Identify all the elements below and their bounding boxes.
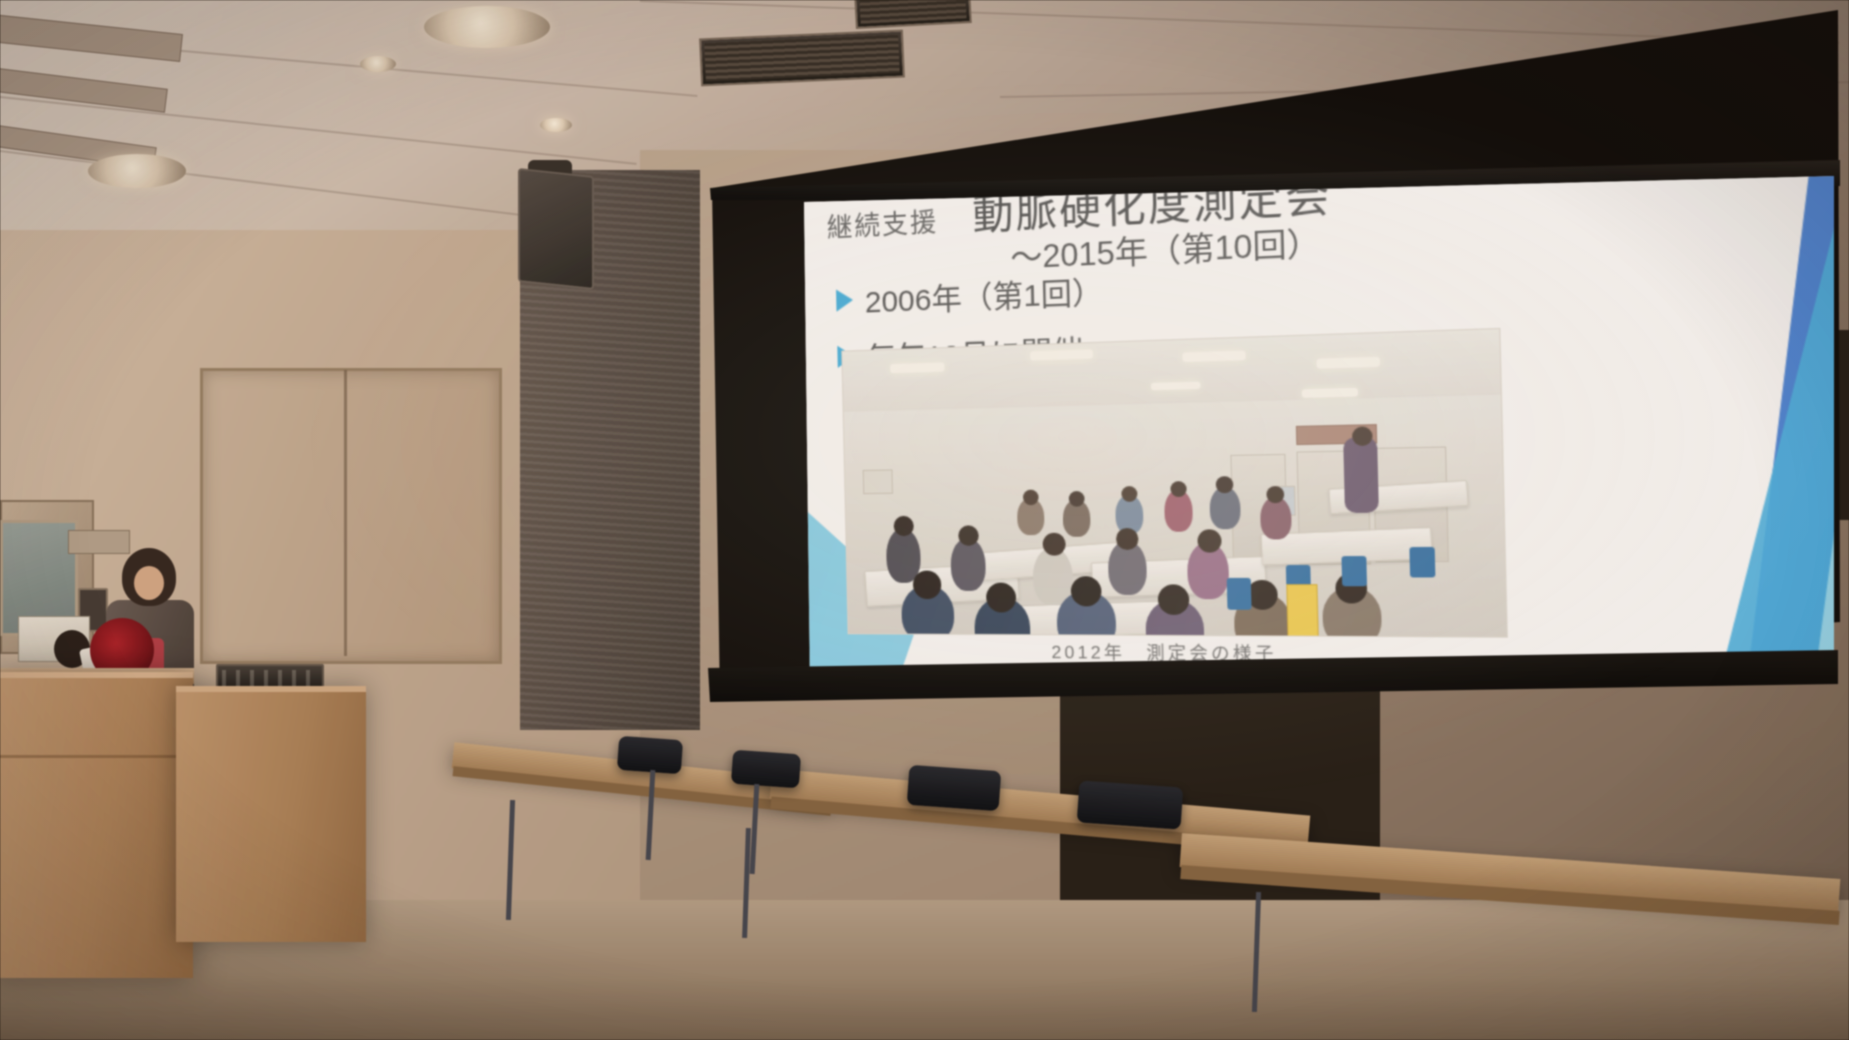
photo-standing-staff xyxy=(1343,437,1379,513)
audience-chair[interactable] xyxy=(1077,780,1184,829)
photo-person-head xyxy=(986,583,1016,613)
photo-person-head xyxy=(1121,486,1137,502)
photo-person-head xyxy=(1042,533,1065,556)
photo-ceiling-light xyxy=(1151,382,1201,391)
recessed-ceiling-light xyxy=(360,56,396,72)
photo-person-head xyxy=(1071,576,1102,606)
list-item: 2006年（第1回） xyxy=(836,267,1104,323)
slide-decoration-mid-blue xyxy=(1684,176,1836,688)
person-face xyxy=(134,566,164,600)
photo-person-head xyxy=(1197,529,1221,552)
lectern-podium xyxy=(0,672,193,978)
door-seam xyxy=(344,370,347,656)
projected-slide: 継続支援 動脈硬化度測定会 ～2015年（第10回） 2006年（第1回） 毎年… xyxy=(798,176,1836,688)
photo-person-head xyxy=(1069,491,1085,507)
ceiling-speaker xyxy=(518,168,594,290)
photo-ceiling-light xyxy=(890,362,944,373)
rear-door-panel[interactable] xyxy=(200,368,502,664)
photo-ceiling-light xyxy=(1317,357,1380,369)
photo-person-head xyxy=(1023,490,1039,506)
slide-decoration-light-blue xyxy=(1789,292,1836,688)
room-environment: 継続支援 動脈硬化度測定会 ～2015年（第10回） 2006年（第1回） 毎年… xyxy=(0,0,1849,1040)
photo-person-head xyxy=(913,571,942,600)
photo-chair xyxy=(1341,556,1367,586)
photo-person-head xyxy=(1116,528,1139,550)
photo-chair xyxy=(1409,547,1435,578)
photo-yellow-signboard xyxy=(1286,584,1319,638)
podium-panel-line xyxy=(0,755,190,758)
projection-screen: 継続支援 動脈硬化度測定会 ～2015年（第10回） 2006年（第1回） 毎年… xyxy=(690,10,1849,710)
slide-title-tag: 継続支援 xyxy=(826,202,938,245)
audience-chair[interactable] xyxy=(907,765,1002,811)
recessed-ceiling-light xyxy=(424,6,550,48)
photo-person-head xyxy=(894,516,914,536)
photo-ceiling-light xyxy=(1182,351,1245,363)
photo-chair xyxy=(1227,578,1252,610)
slide-decoration-dark-blue xyxy=(1660,176,1836,688)
bullet-text: 2006年（第1回） xyxy=(864,267,1104,322)
recessed-ceiling-light xyxy=(88,154,186,188)
slide-embedded-photo xyxy=(841,328,1508,638)
audience-chair[interactable] xyxy=(731,750,801,789)
triangle-bullet-icon xyxy=(836,289,853,312)
recessed-ceiling-light xyxy=(540,118,572,132)
photo-ceiling-light xyxy=(1302,388,1358,398)
photo-person-head xyxy=(1266,486,1284,503)
screen-surface: 継続支援 動脈硬化度測定会 ～2015年（第10回） 2006年（第1回） 毎年… xyxy=(708,176,1836,688)
photo-person-head xyxy=(1170,481,1187,497)
photo-person-head xyxy=(1158,584,1190,615)
photo-person-head xyxy=(958,525,979,546)
presentation-room-photo: 継続支援 動脈硬化度測定会 ～2015年（第10回） 2006年（第1回） 毎年… xyxy=(0,0,1849,1040)
console-cabinet xyxy=(176,686,366,942)
photo-wall-notice xyxy=(863,469,893,494)
audience-chair[interactable] xyxy=(617,736,683,774)
